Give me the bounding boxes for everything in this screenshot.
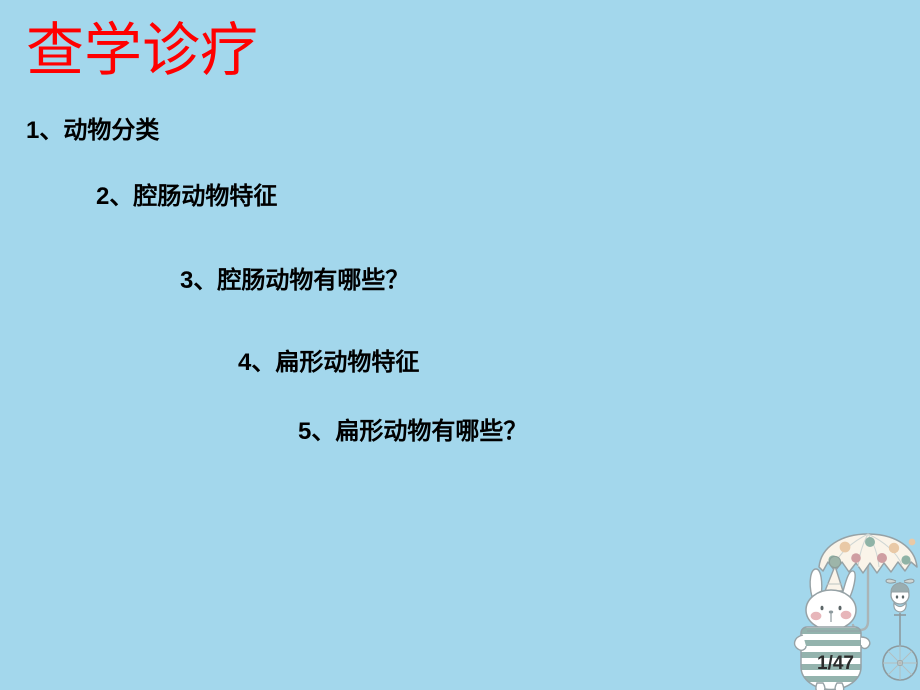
umbrella-icon bbox=[819, 534, 917, 630]
outline-item-2: 2、腔肠动物特征 bbox=[96, 184, 277, 210]
party-hat-icon bbox=[825, 566, 843, 591]
decoration-svg bbox=[790, 525, 920, 690]
slide-title: 查学诊疗 bbox=[26, 20, 258, 83]
outline-item-1: 1、动物分类 bbox=[26, 118, 159, 144]
umbrella-dot bbox=[909, 539, 916, 546]
umbrella-dot bbox=[840, 542, 851, 553]
umbrella-dot bbox=[877, 553, 887, 563]
outline-item-3: 3、腔肠动物有哪些？ bbox=[180, 268, 409, 294]
pom-pom-icon bbox=[829, 556, 840, 567]
outline-item-4: 4、扁形动物特征 bbox=[238, 350, 419, 376]
page-indicator: 1/47 bbox=[817, 653, 854, 675]
rabbit-with-umbrella-illustration bbox=[790, 525, 920, 690]
umbrella-dot bbox=[828, 555, 837, 564]
umbrella-dot bbox=[901, 555, 910, 564]
unicycle-character-icon bbox=[883, 579, 917, 680]
presentation-slide: 查学诊疗 1、动物分类 2、腔肠动物特征 3、腔肠动物有哪些？ 4、扁形动物特征… bbox=[0, 0, 920, 690]
outline-item-5: 5、扁形动物有哪些？ bbox=[298, 419, 527, 445]
umbrella-dot bbox=[889, 543, 899, 553]
umbrella-dot bbox=[851, 553, 861, 563]
umbrella-dot bbox=[865, 537, 875, 547]
